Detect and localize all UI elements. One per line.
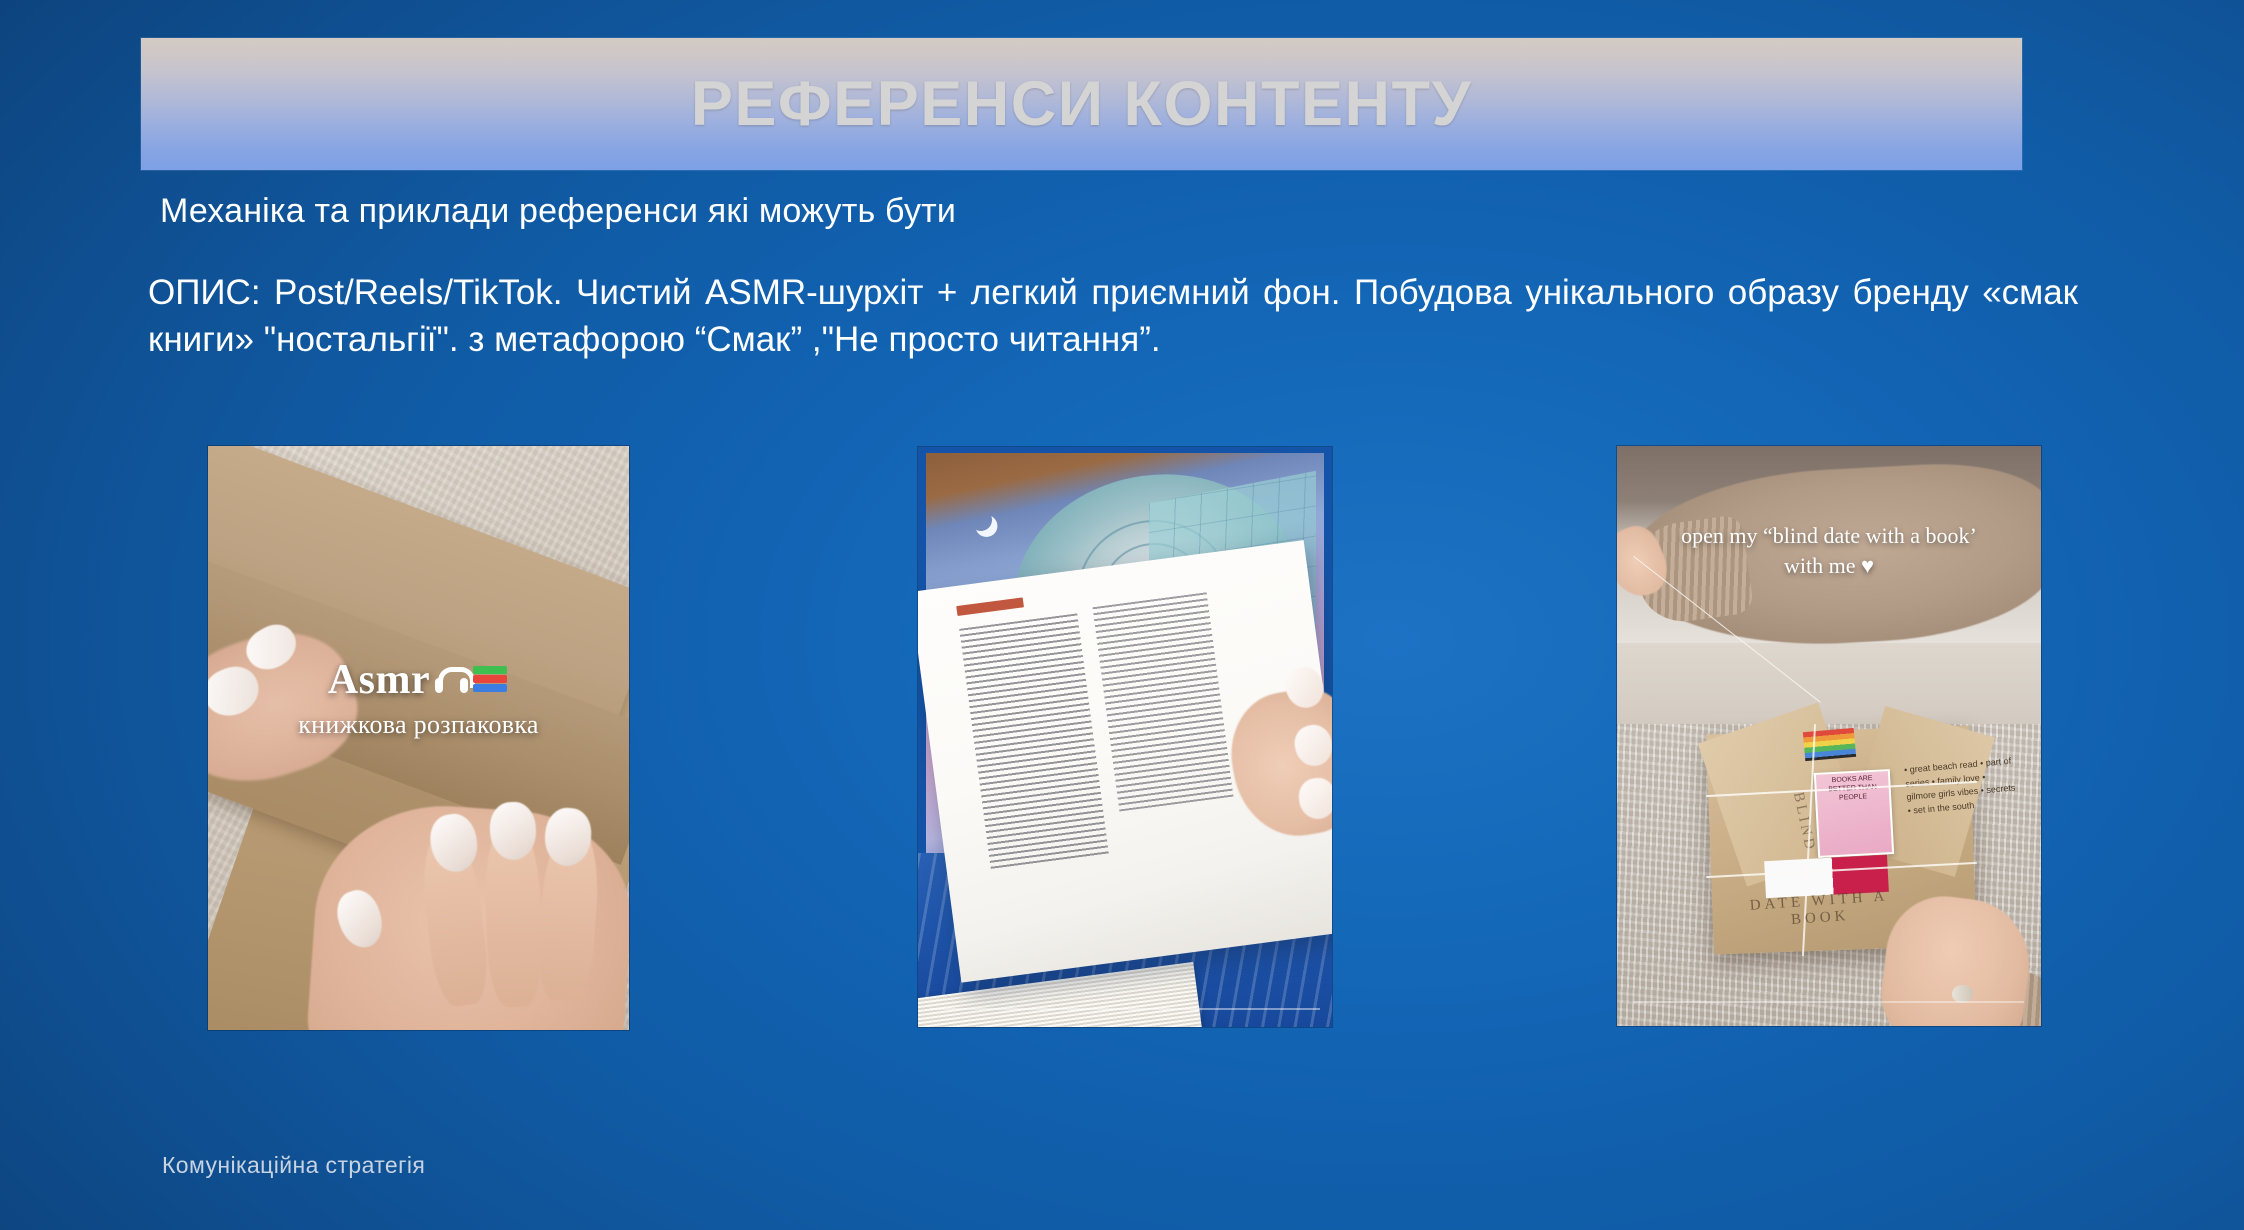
slide-title-banner: РЕФЕРЕНСИ КОНТЕНТУ	[141, 38, 2022, 170]
parcel-stamp-text: DATE WITH A BOOK	[1743, 887, 1899, 950]
slide-subtitle: Механіка та приклади референси які можут…	[160, 192, 2040, 231]
reference-thumbnail-open-book[interactable]	[918, 447, 1332, 1027]
page-text-column	[1092, 593, 1233, 811]
headphones-icon	[435, 667, 468, 694]
reference-card-2: https://www.tiktok.com/@cozy_claire_asmr…	[918, 447, 1332, 1027]
slide-footer: Комунікаційна стратегія	[162, 1152, 425, 1179]
reference-card-1: Ч bookclub.ua простір книжок, що захоплю…	[208, 446, 629, 1030]
overlay-title-row: Asmr	[208, 656, 629, 704]
page-heading	[956, 597, 1024, 616]
overlay-line-2-row: with me ♥	[1642, 551, 2015, 581]
overlay-subtitle: книжкова розпаковка	[208, 710, 629, 740]
reference-card-3: BLIND BOOKS ARE BETTER THAN PEOPLE • gre…	[1617, 446, 2041, 1026]
moon-graphic	[967, 506, 995, 534]
handwritten-notes: • great beach read • part of series • fa…	[1903, 755, 2026, 915]
page-title: РЕФЕРЕНСИ КОНТЕНТУ	[691, 68, 1472, 140]
photo-text-overlay: Asmr книжкова розпаковка	[208, 656, 629, 740]
books-icon	[473, 666, 509, 694]
progress-line	[1634, 1001, 2024, 1003]
overlay-line-1: open my “blind date with a book’	[1642, 521, 2015, 551]
progress-line	[930, 1008, 1319, 1010]
presentation-slide: РЕФЕРЕНСИ КОНТЕНТУ Механіка та приклади …	[0, 0, 2244, 1230]
photo-text-overlay: open my “blind date with a book’ with me…	[1642, 521, 2015, 580]
rainbow-bookmark	[1802, 728, 1855, 761]
reference-thumbnail-blind-date-book[interactable]: BLIND BOOKS ARE BETTER THAN PEOPLE • gre…	[1617, 446, 2041, 1026]
slide-description: ОПИС: Post/Reels/TikTok. Чистий ASMR-шур…	[148, 270, 2078, 364]
pink-quote-card: BOOKS ARE BETTER THAN PEOPLE	[1814, 769, 1894, 858]
reference-thumbnail-asmr-unboxing[interactable]: Ч bookclub.ua простір книжок, що захоплю…	[208, 446, 629, 1030]
overlay-asmr-label: Asmr	[328, 656, 430, 704]
page-text-column	[959, 614, 1109, 872]
heart-icon: ♥	[1861, 553, 1874, 578]
overlay-line-2: with me	[1784, 553, 1856, 578]
